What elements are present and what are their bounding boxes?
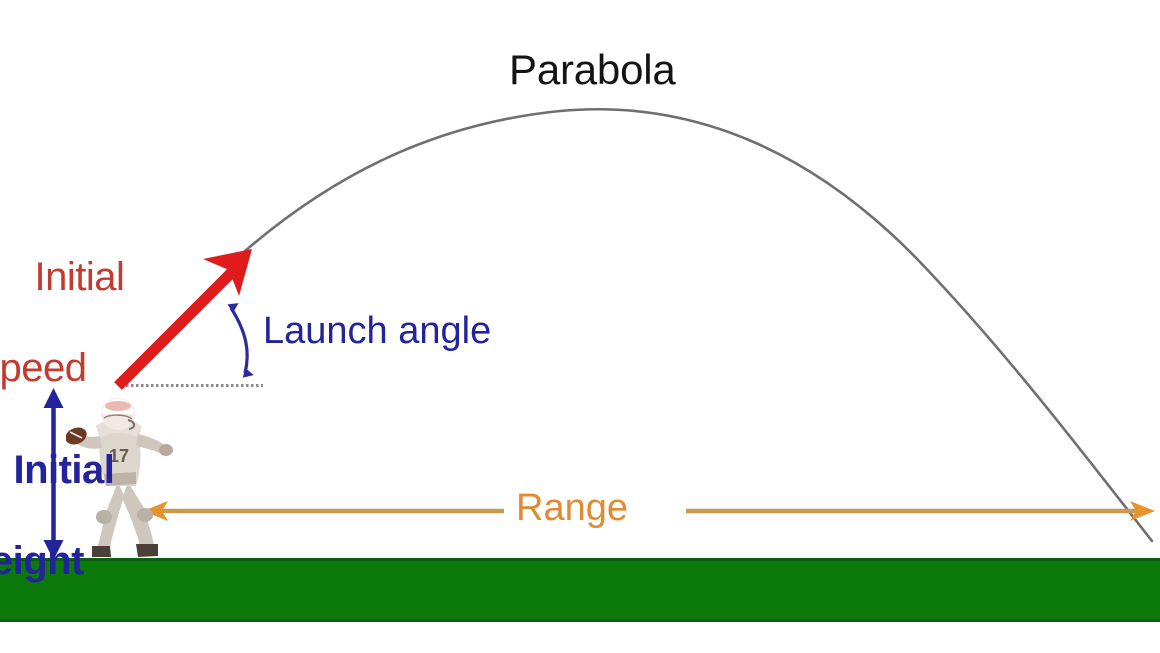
- label-launch-angle: Launch angle: [263, 312, 491, 352]
- initial-speed-line-2: speed: [0, 348, 124, 390]
- projectile-motion-diagram: 17 Parabola Launch angle Range Initial s…: [0, 0, 1160, 653]
- initial-height-line-1: Initial: [13, 448, 114, 492]
- green-ground-band: [0, 558, 1160, 622]
- label-range: Range: [516, 489, 628, 529]
- initial-speed-arrow: [118, 249, 252, 386]
- range-double-arrow: [143, 501, 1155, 521]
- initial-height-line-2: height: [0, 541, 114, 583]
- label-initial-height: Initial height: [0, 408, 114, 653]
- launch-angle-double-arrow: [231, 308, 247, 373]
- label-parabola: Parabola: [509, 48, 676, 92]
- initial-speed-line-1: Initial: [34, 255, 124, 299]
- diagram-canvas: [0, 0, 1160, 653]
